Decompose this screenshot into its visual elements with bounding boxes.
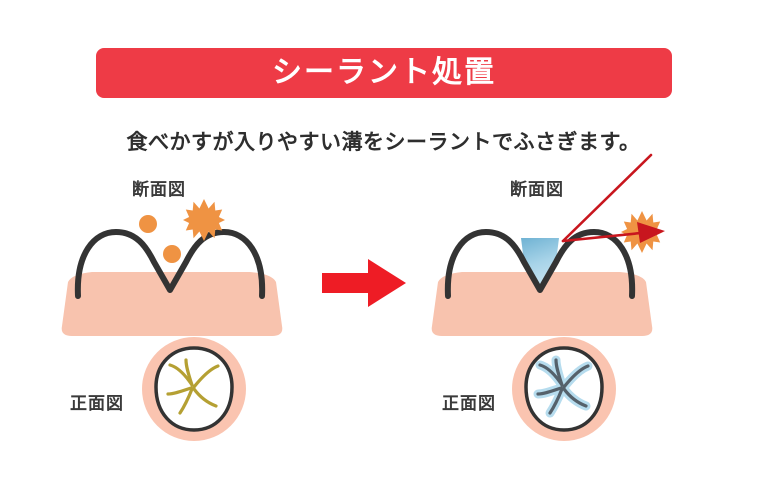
arrow-right-icon	[320, 255, 408, 311]
page-title: シーラント処置	[272, 58, 496, 88]
front-view-diagram-after	[510, 335, 618, 443]
illustration-root: シーラント処置 食べかすが入りやすい溝をシーラントでふさぎます。 断面図 正面図	[0, 0, 767, 492]
block-arrow-head	[637, 222, 665, 243]
food-particle-icon	[163, 245, 181, 263]
panel-before-sealant: 断面図 正面図	[50, 165, 350, 465]
block-arrow-line	[563, 233, 641, 241]
label-cross-section-before: 断面図	[132, 175, 186, 200]
pointer-annotation	[545, 145, 705, 265]
label-front-view-after: 正面図	[442, 389, 496, 414]
label-front-view-before: 正面図	[70, 389, 124, 414]
leader-line	[563, 155, 651, 241]
arrow-right-shape	[322, 259, 406, 307]
food-particle-icon	[139, 215, 157, 233]
title-banner: シーラント処置	[96, 48, 672, 98]
front-view-diagram-before	[140, 335, 248, 443]
